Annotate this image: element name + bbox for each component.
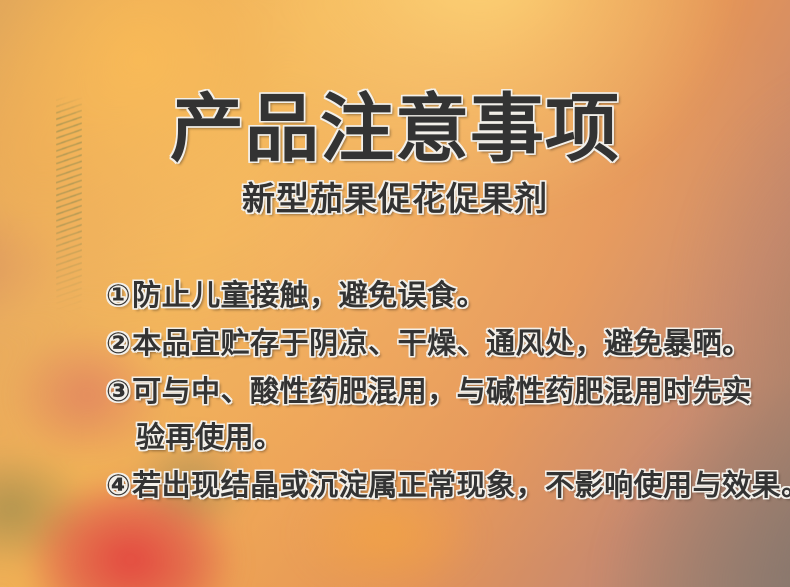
precaution-list: ①防止儿童接触，避免误食。 ②本品宜贮存于阴凉、干燥、通风处，避免暴晒。 ③可与… <box>106 272 760 508</box>
product-precautions-poster: 产品注意事项 新型茄果促花促果剂 ①防止儿童接触，避免误食。 ②本品宜贮存于阴凉… <box>0 0 790 587</box>
list-item-text: 若出现结晶或沉淀属正常现象，不影响使用与效果。 <box>132 468 790 502</box>
list-item: ④若出现结晶或沉淀属正常现象，不影响使用与效果。 <box>106 462 760 508</box>
list-item: ①防止儿童接触，避免误食。 <box>106 272 760 318</box>
list-item-text: 防止儿童接触，避免误食。 <box>132 278 486 312</box>
list-item-text: 可与中、酸性药肥混用，与碱性药肥混用时先实 <box>132 374 752 408</box>
list-item: ③可与中、酸性药肥混用，与碱性药肥混用时先实 验再使用。 <box>106 368 760 460</box>
list-item-text-continued: 验再使用。 <box>106 414 760 460</box>
list-item-number: ② <box>106 326 131 360</box>
page-subtitle: 新型茄果促花促果剂 <box>0 182 790 215</box>
list-item-number: ④ <box>106 468 131 502</box>
list-item-text: 本品宜贮存于阴凉、干燥、通风处，避免暴晒。 <box>132 326 752 360</box>
list-item: ②本品宜贮存于阴凉、干燥、通风处，避免暴晒。 <box>106 320 760 366</box>
page-title: 产品注意事项 <box>0 92 790 166</box>
list-item-number: ① <box>106 278 131 312</box>
list-item-number: ③ <box>106 374 131 408</box>
poster-content: 产品注意事项 新型茄果促花促果剂 ①防止儿童接触，避免误食。 ②本品宜贮存于阴凉… <box>0 0 790 587</box>
